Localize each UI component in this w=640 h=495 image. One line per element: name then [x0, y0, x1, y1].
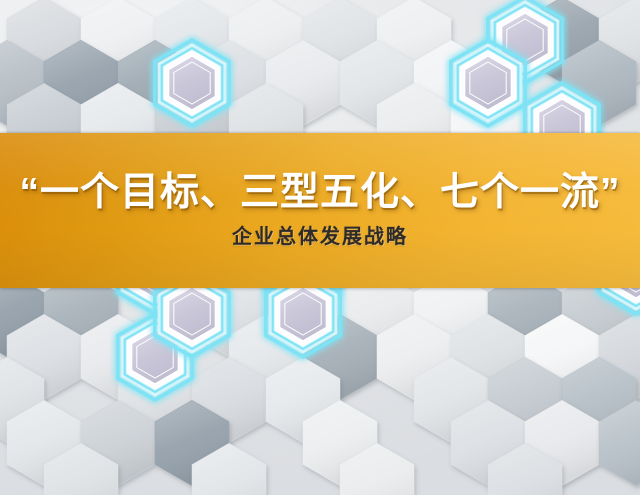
title-banner: “一个目标、三型五化、七个一流” 企业总体发展战略 [0, 133, 640, 288]
slide-subtitle: 企业总体发展战略 [232, 227, 408, 248]
presentation-slide: “一个目标、三型五化、七个一流” 企业总体发展战略 [0, 0, 640, 495]
slide-title: “一个目标、三型五化、七个一流” [19, 173, 620, 214]
